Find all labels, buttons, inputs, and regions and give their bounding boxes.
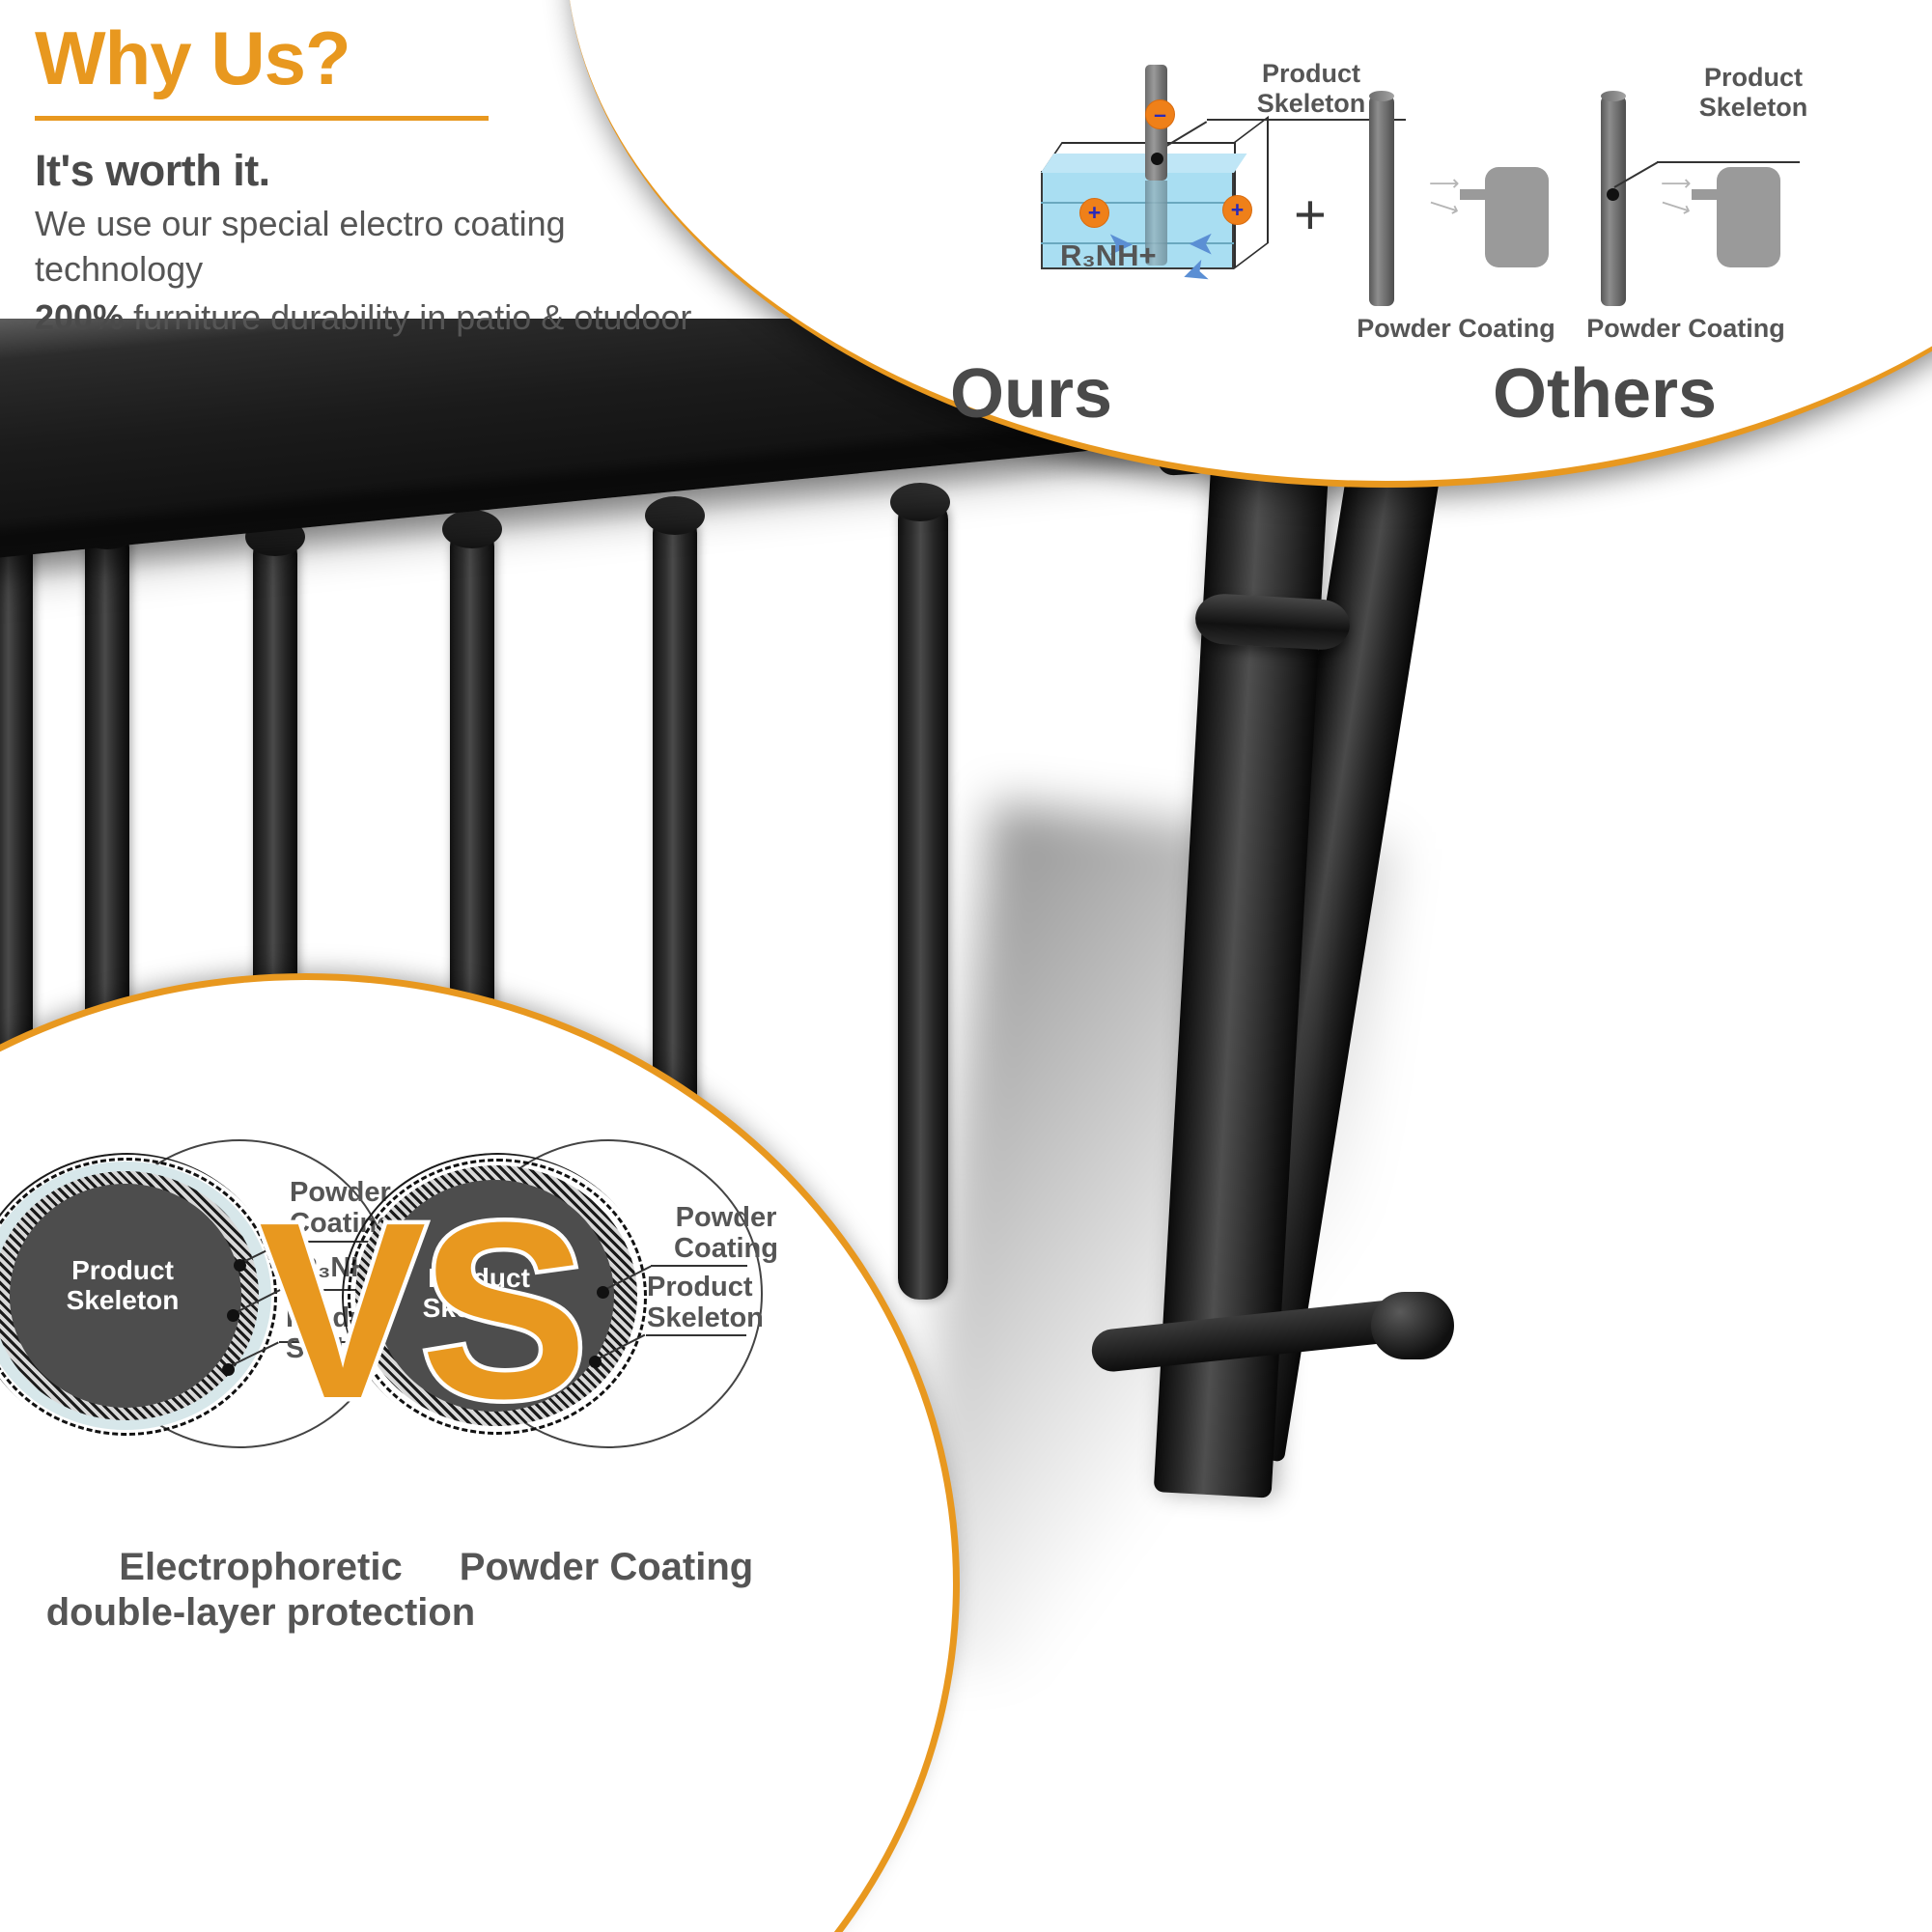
anion-charge-icon: + <box>1079 198 1109 228</box>
callout-dot <box>1607 188 1619 201</box>
ours-spray-nozzle <box>1460 189 1487 200</box>
header-line-2: 200% furniture durability in patio & otu… <box>35 295 730 341</box>
durability-text: furniture durability in patio & otudoor <box>124 297 691 337</box>
page-title: Why Us? <box>35 19 730 98</box>
callout-dot <box>1151 153 1163 165</box>
header-block: Why Us? It's worth it. We use our specia… <box>35 19 730 345</box>
tank-liquid-surface <box>1041 154 1246 173</box>
header-subtitle: It's worth it. <box>35 146 730 196</box>
others-title: Others <box>1493 354 1717 434</box>
vs-label: VS <box>259 1186 582 1437</box>
anion-charge-icon: + <box>1222 195 1252 225</box>
tank-side-face <box>1234 116 1269 269</box>
rod-cap <box>1601 91 1626 101</box>
plus-operator: + <box>1294 182 1327 247</box>
tank-electrolyte-label: R₃NH+ <box>1060 238 1157 273</box>
top-process-diagram: – + + ➤ ➤ ➤ R₃NH+ Product Skeleton + ⟶ ⟶… <box>1004 53 1921 439</box>
rod-cap <box>1369 91 1394 101</box>
ours-spray-gun <box>1485 167 1549 267</box>
callout-dot <box>234 1259 246 1272</box>
right-caption: Powder Coating <box>404 1545 809 1590</box>
others-product-skeleton-label: Product Skeleton <box>1657 63 1850 123</box>
cathode-charge-icon: – <box>1145 99 1175 129</box>
infographic-canvas: Why Us? It's worth it. We use our specia… <box>0 0 1932 1932</box>
left-core-label: Product Skeleton <box>31 1255 214 1316</box>
chair-post-collar <box>1194 593 1352 652</box>
callout-leader-line <box>646 1334 746 1336</box>
others-powder-coating-label: Powder Coating <box>1551 314 1821 344</box>
right-callout-powder-coating: Powder Coating <box>649 1203 803 1265</box>
tank-waterline <box>1041 202 1234 204</box>
others-spray-nozzle <box>1692 189 1719 200</box>
callout-dot <box>227 1309 239 1322</box>
header-line-1: We use our special electro coating techn… <box>35 202 730 293</box>
ours-powder-rod <box>1369 96 1394 306</box>
ours-title: Ours <box>950 354 1112 434</box>
callout-dot <box>597 1286 609 1299</box>
durability-percent: 200% <box>35 297 124 337</box>
others-powder-rod <box>1601 96 1626 306</box>
chair-rail-knob <box>1371 1292 1454 1359</box>
callout-leader-line <box>1657 161 1800 163</box>
callout-dot <box>222 1363 235 1376</box>
others-spray-gun <box>1717 167 1780 267</box>
title-divider <box>35 116 489 121</box>
callout-dot <box>589 1356 602 1368</box>
callout-leader-line <box>651 1265 747 1267</box>
right-callout-product-skeleton: Product Skeleton <box>647 1273 811 1334</box>
